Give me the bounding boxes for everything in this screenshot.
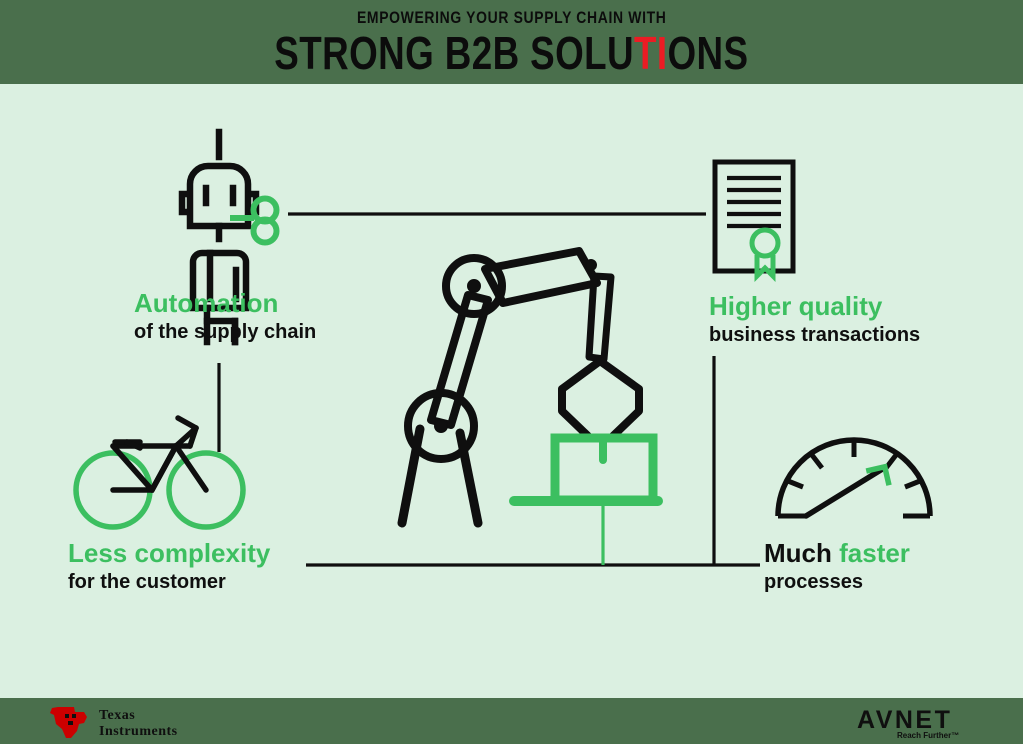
title-part-1: STRONG B2B SOLU <box>274 27 634 79</box>
callout-much-faster-prefix: Much <box>764 538 839 568</box>
avnet-tagline: Reach Further™ <box>897 731 959 740</box>
title-highlight-ti: TI <box>634 27 668 79</box>
callout-less-complexity-sub: for the customer <box>68 571 270 593</box>
ti-logo-line-2: Instruments <box>99 724 178 739</box>
callout-less-complexity-lead: Less complexity <box>68 539 270 568</box>
bicycle-icon <box>76 418 243 527</box>
callout-higher-quality: Higher quality business transactions <box>709 292 920 347</box>
icon-layer <box>0 84 1023 698</box>
callout-much-faster: Much faster processes <box>764 539 910 594</box>
header-banner: EMPOWERING YOUR SUPPLY CHAIN WITH STRONG… <box>0 0 1023 84</box>
package-icon <box>555 438 653 500</box>
texas-instruments-logo: Texas Instruments <box>44 705 244 739</box>
speedometer-icon <box>778 440 930 516</box>
callout-higher-quality-lead: Higher quality <box>709 292 920 321</box>
robot-windup-key-icon <box>230 199 277 243</box>
avnet-wordmark: AVNET <box>857 706 952 734</box>
callout-less-complexity: Less complexity for the customer <box>68 539 270 594</box>
ti-logo-line-1: Texas <box>99 708 135 723</box>
callout-higher-quality-sub: business transactions <box>709 324 920 346</box>
callout-automation-lead: Automation <box>134 289 316 318</box>
callout-much-faster-highlight: faster <box>839 538 910 568</box>
robotic-arm-icon <box>402 251 639 523</box>
footer-bar: Texas Instruments AVNET Reach Further™ <box>0 698 1023 744</box>
header-kicker: EMPOWERING YOUR SUPPLY CHAIN WITH <box>357 9 667 26</box>
award-seal-icon <box>752 230 778 276</box>
callout-much-faster-lead: Much faster <box>764 539 910 568</box>
callout-much-faster-sub: processes <box>764 571 910 593</box>
title-part-2: ONS <box>668 27 749 79</box>
infographic-canvas: Automation of the supply chain Higher qu… <box>0 84 1023 698</box>
certificate-icon <box>715 162 793 276</box>
page-title: STRONG B2B SOLUTIONS <box>274 30 748 76</box>
avnet-logo: AVNET Reach Further™ <box>855 704 985 740</box>
callout-automation-sub: of the supply chain <box>134 321 316 343</box>
callout-automation: Automation of the supply chain <box>134 289 316 344</box>
